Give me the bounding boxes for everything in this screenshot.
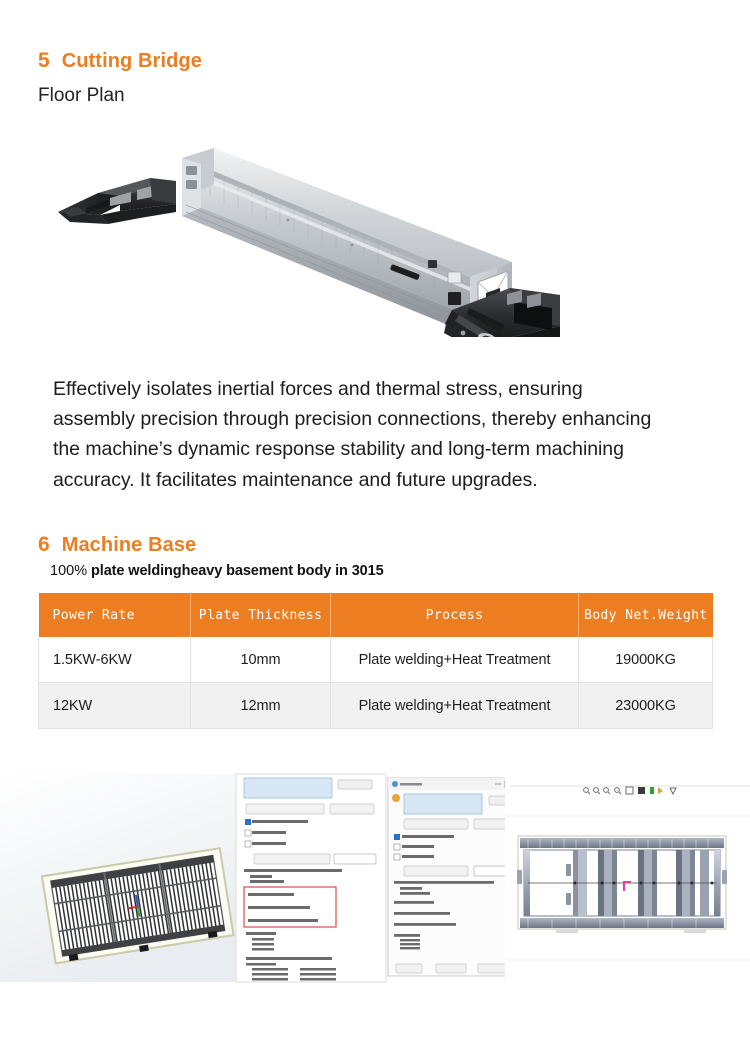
section-5-title: Cutting Bridge <box>62 51 202 71</box>
section-6-subtitle-percent: 100% <box>50 563 87 579</box>
section-5-paragraph: Effectively isolates inertial forces and… <box>53 374 665 496</box>
cutting-bridge-figure <box>0 112 750 337</box>
frame-drawing <box>517 836 727 933</box>
machine-bed-cad-render <box>0 774 236 982</box>
cell-body-net-weight: 19000KG <box>579 637 713 683</box>
bottom-strip-graphic <box>0 768 750 984</box>
cell-plate-thickness: 10mm <box>191 637 331 683</box>
section-6-heading: 6 Machine Base <box>38 534 196 555</box>
column-header-plate-thickness: Plate Thickness <box>191 593 331 637</box>
section-6-subtitle: 100% plate weldingheavy basement body in… <box>50 562 384 580</box>
section-6-number: 6 <box>38 534 50 555</box>
table-header-row: Power Rate Plate Thickness Process Body … <box>39 593 713 637</box>
table-row: 1.5KW-6KW 10mm Plate welding+Heat Treatm… <box>39 637 713 683</box>
section-6-title: Machine Base <box>62 535 197 555</box>
table-row: 12KW 12mm Plate welding+Heat Treatment 2… <box>39 683 713 729</box>
table-header: Power Rate Plate Thickness Process Body … <box>39 593 713 637</box>
cell-power-rate: 1.5KW-6KW <box>39 637 191 683</box>
mass-properties-dialog-2 <box>388 778 520 976</box>
cell-process: Plate welding+Heat Treatment <box>331 683 579 729</box>
base-frame-top-view-cad <box>505 774 750 982</box>
column-header-power-rate: Power Rate <box>39 593 191 637</box>
cutting-bridge-beam-render <box>0 112 750 337</box>
mass-properties-dialog-1 <box>236 774 386 982</box>
cell-body-net-weight: 23000KG <box>579 683 713 729</box>
column-header-body-net-weight: Body Net.Weight <box>579 593 713 637</box>
column-header-process: Process <box>331 593 579 637</box>
section-5-subtitle: Floor Plan <box>38 86 125 107</box>
machine-base-spec-table: Power Rate Plate Thickness Process Body … <box>38 593 713 729</box>
table-body: 1.5KW-6KW 10mm Plate welding+Heat Treatm… <box>39 637 713 729</box>
cell-plate-thickness: 12mm <box>191 683 331 729</box>
bottom-image-strip <box>0 768 750 984</box>
cell-process: Plate welding+Heat Treatment <box>331 637 579 683</box>
cell-power-rate: 12KW <box>39 683 191 729</box>
section-6-subtitle-bold: plate weldingheavy basement body in 3015 <box>87 563 383 579</box>
section-5-heading: 5 Cutting Bridge <box>38 50 202 71</box>
section-5-number: 5 <box>38 50 50 71</box>
